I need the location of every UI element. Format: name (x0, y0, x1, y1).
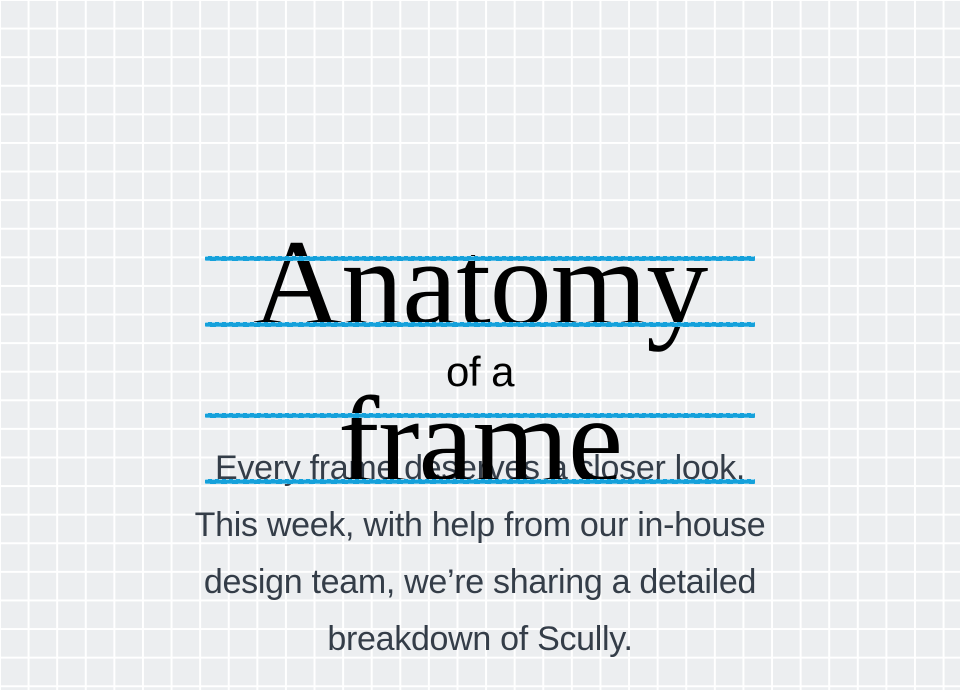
poster-canvas: Anatomy of a frame Every frame deserves … (0, 0, 960, 690)
headline-word-anatomy: Anatomy (0, 222, 960, 346)
headline-word-frame: frame (0, 379, 960, 503)
guide-rule-baseline-frame (205, 479, 755, 484)
body-paragraph-line: breakdown of Scully. (70, 611, 890, 668)
guide-rule-cap-height-anatomy (205, 256, 755, 261)
body-paragraph-line: design team, we’re sharing a detailed (70, 554, 890, 611)
guide-rule-cap-height-frame (205, 413, 755, 418)
guide-rule-baseline-anatomy (205, 322, 755, 327)
